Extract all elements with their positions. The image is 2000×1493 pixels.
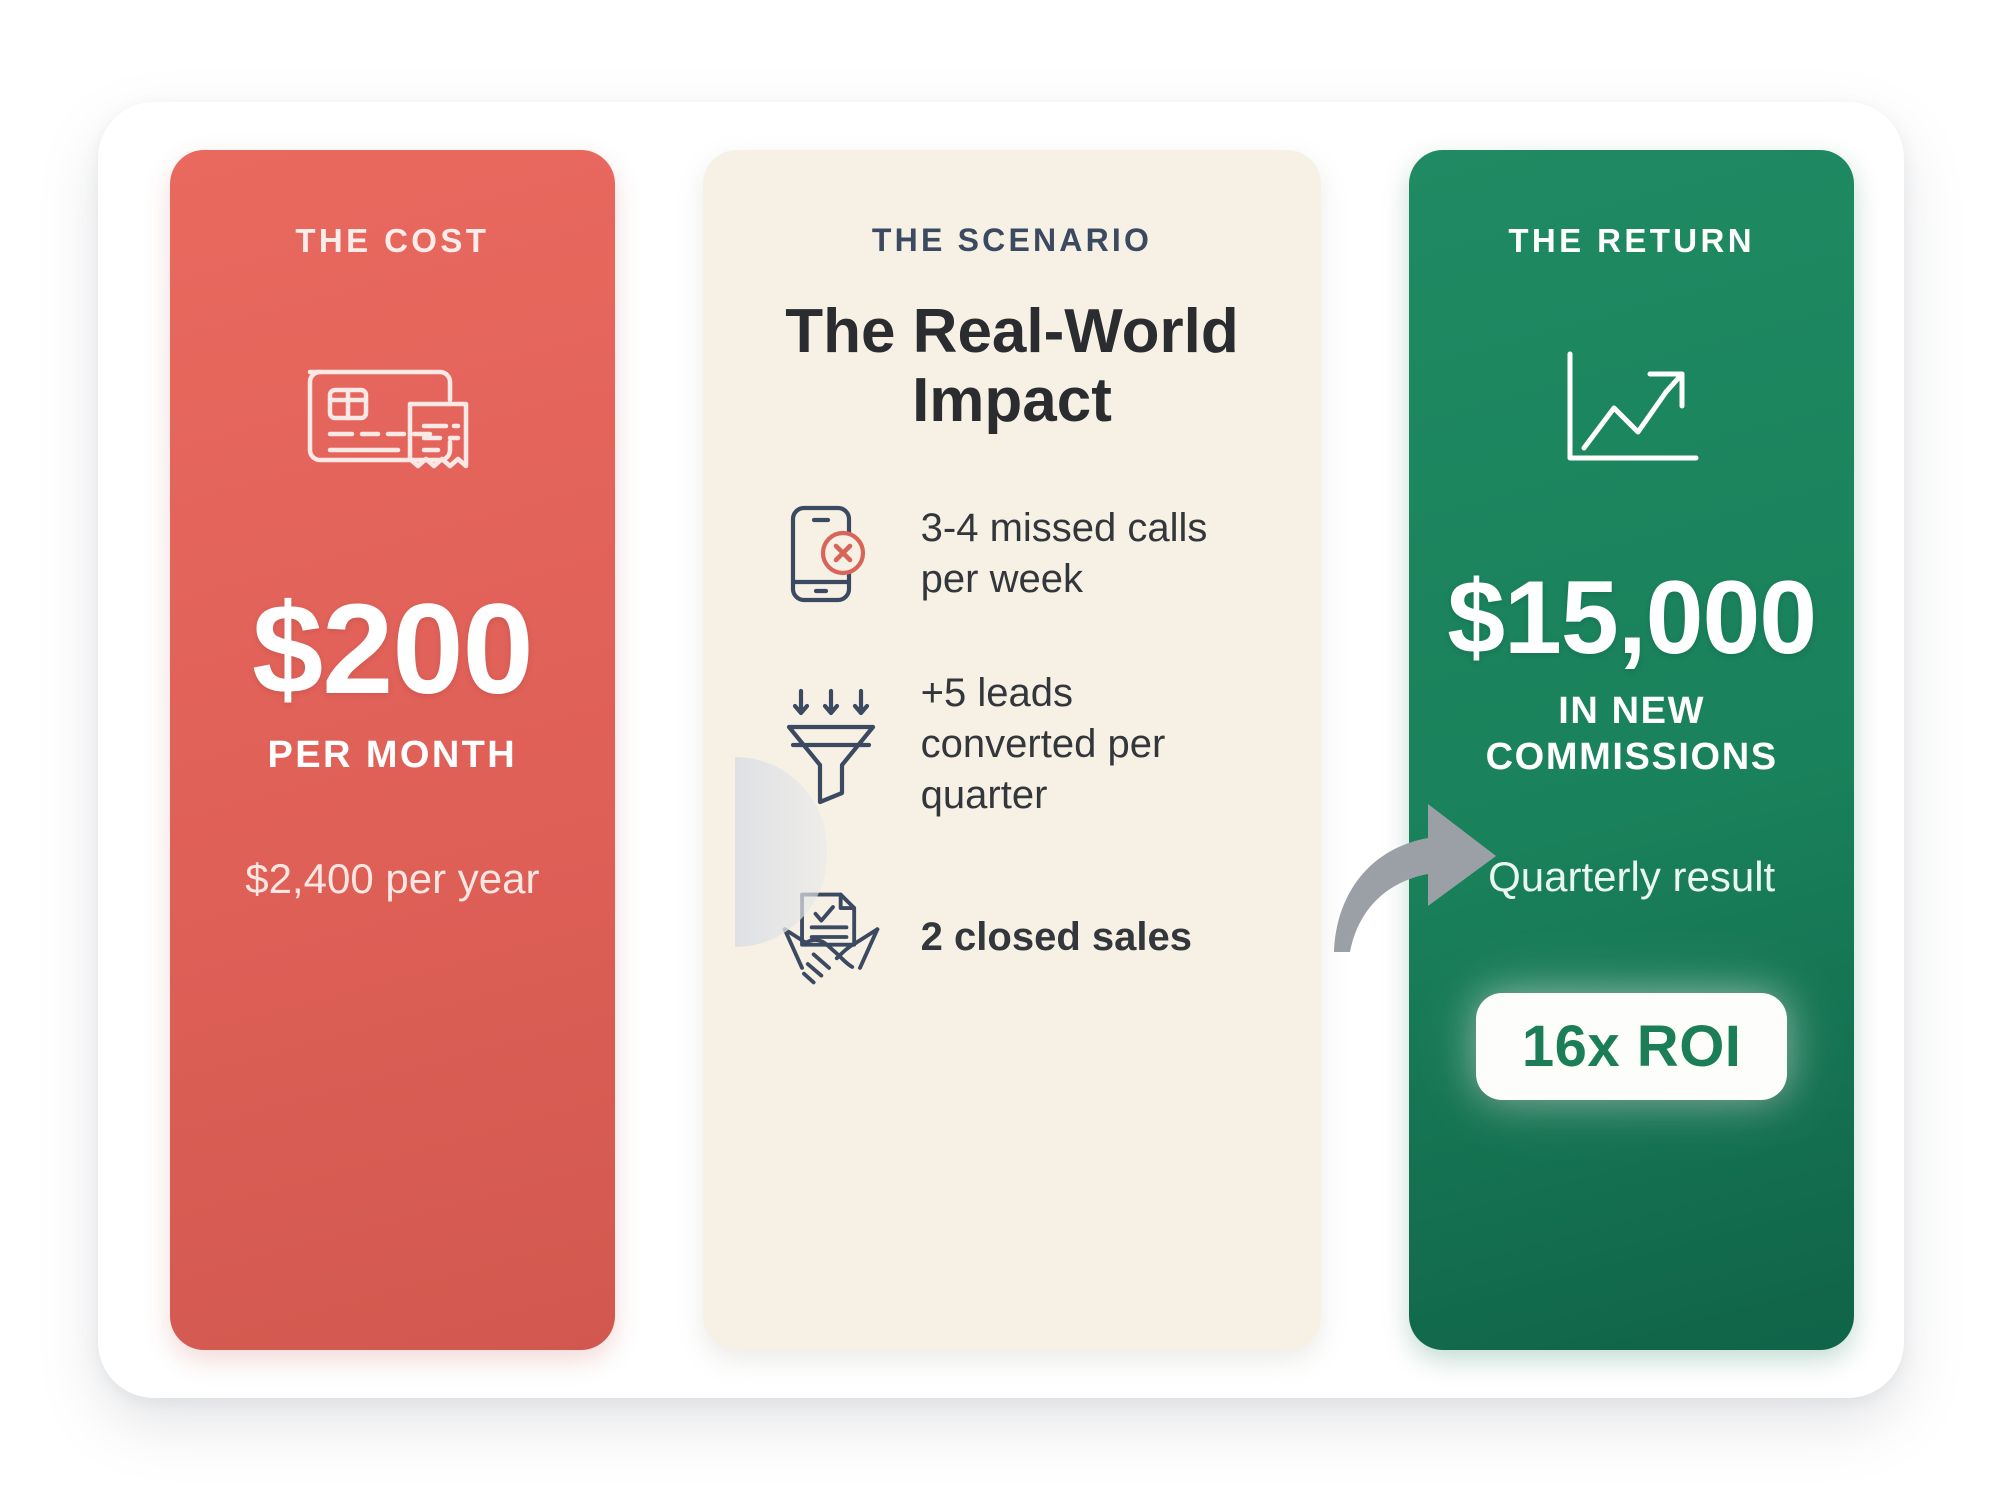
scenario-row-closed-sales: 2 closed sales bbox=[775, 879, 1260, 995]
scenario-row-missed-calls: 3-4 missed calls per week bbox=[775, 498, 1260, 610]
return-amount: $15,000 bbox=[1447, 566, 1816, 670]
scenario-row-text: 2 closed sales bbox=[921, 912, 1192, 963]
scenario-title: The Real-World Impact bbox=[703, 297, 1322, 436]
cost-card-eyebrow: THE COST bbox=[295, 222, 489, 260]
scenario-rows: 3-4 missed calls per week bbox=[703, 498, 1322, 996]
scenario-row-text: 3-4 missed calls per week bbox=[921, 503, 1260, 605]
cost-amount-yearly: $2,400 per year bbox=[245, 855, 539, 903]
growth-chart-arrow-icon bbox=[1552, 344, 1712, 474]
roi-badge-text: 16x ROI bbox=[1522, 1014, 1742, 1079]
cost-amount-period: PER MONTH bbox=[268, 734, 518, 777]
cards-row: THE COST bbox=[98, 102, 1904, 1398]
scenario-row-leads-converted: +5 leads converted per quarter bbox=[775, 668, 1260, 822]
roi-badge: 16x ROI bbox=[1476, 993, 1788, 1100]
scenario-row-text: +5 leads converted per quarter bbox=[921, 668, 1260, 822]
return-card: THE RETURN $15,000 IN NEW COMMISSIONS Qu… bbox=[1409, 150, 1854, 1350]
return-card-eyebrow: THE RETURN bbox=[1508, 222, 1755, 260]
credit-card-receipt-icon bbox=[292, 338, 492, 488]
infographic-stage: THE COST bbox=[0, 0, 2000, 1493]
phone-missed-call-icon bbox=[775, 498, 887, 610]
scenario-card: THE SCENARIO The Real-World Impact bbox=[703, 150, 1322, 1350]
handshake-contract-icon bbox=[775, 879, 887, 995]
cost-amount: $200 bbox=[252, 586, 533, 714]
funnel-leads-icon bbox=[775, 683, 887, 807]
infographic-panel: THE COST bbox=[98, 102, 1904, 1398]
cost-card: THE COST bbox=[170, 150, 615, 1350]
return-amount-description: IN NEW COMMISSIONS bbox=[1409, 688, 1854, 781]
return-amount-period: Quarterly result bbox=[1488, 853, 1775, 901]
scenario-card-eyebrow: THE SCENARIO bbox=[872, 222, 1152, 259]
